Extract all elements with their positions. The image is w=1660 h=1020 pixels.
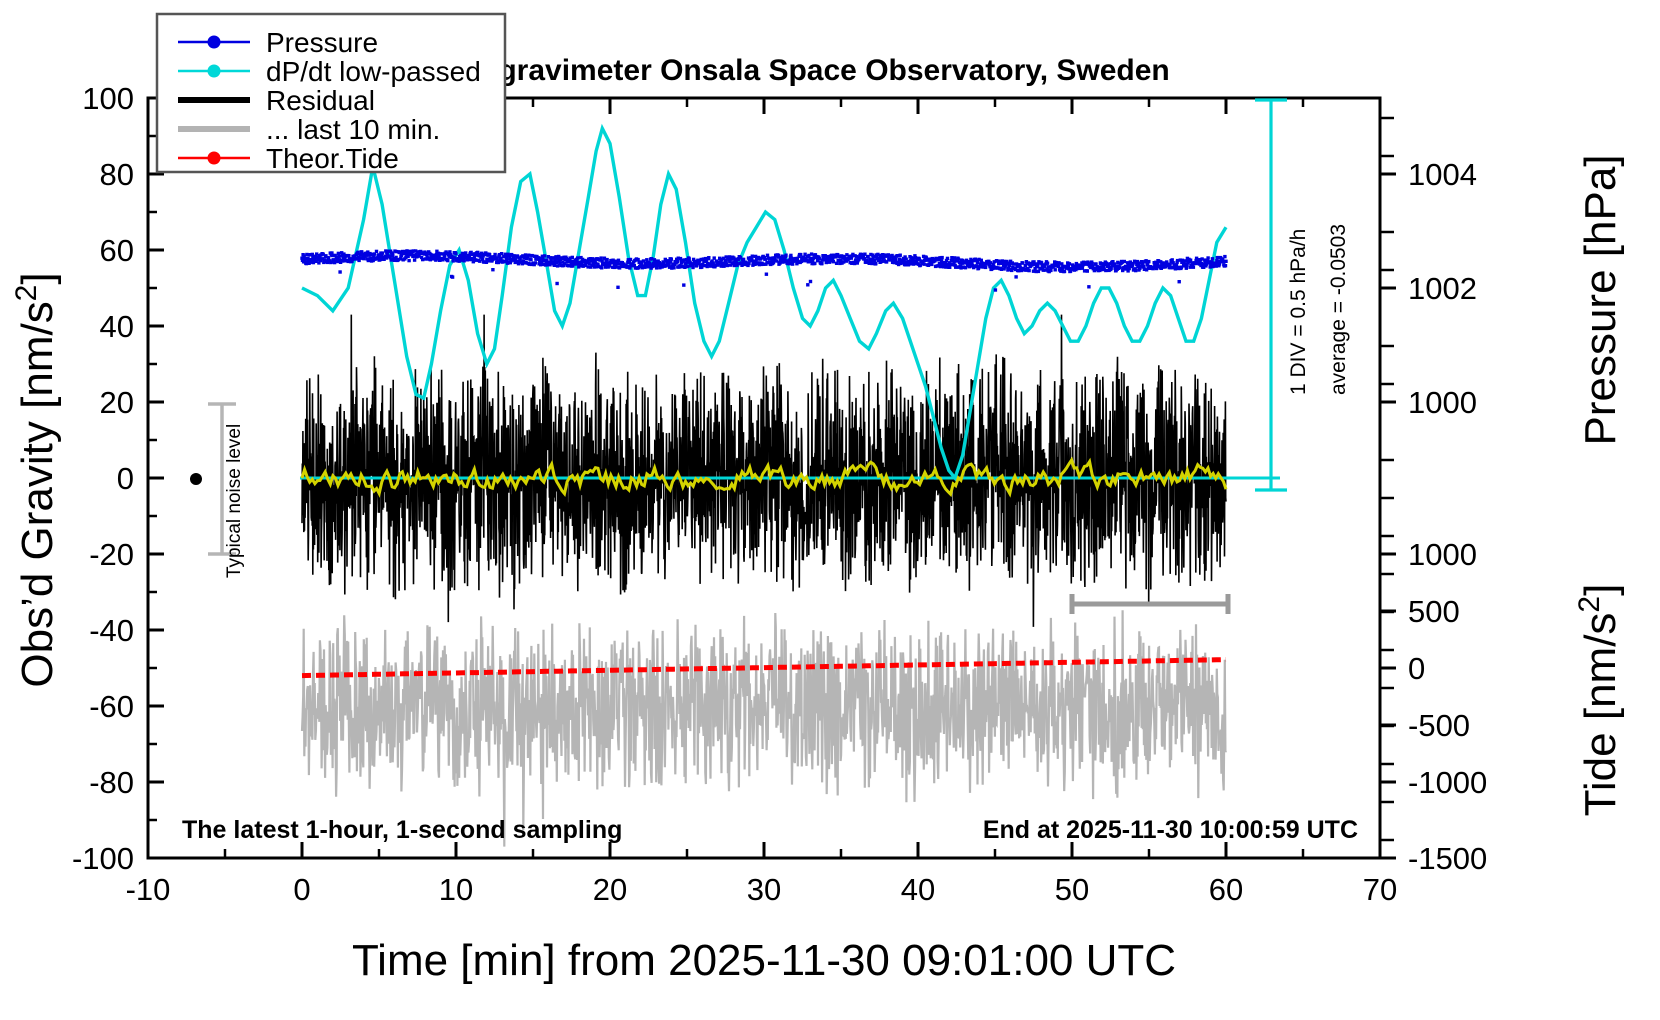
y-tick-label: 40 (100, 309, 134, 344)
legend-marker (208, 65, 221, 78)
y-axis-right-tide: 10005000-500-1000-1500 (1380, 537, 1487, 876)
x-tick-label: 20 (593, 872, 627, 907)
series-pressure (300, 249, 1227, 291)
y-tick-label: 0 (117, 461, 134, 496)
typical-noise-level-label: Typical noise level (224, 424, 245, 578)
pressure-tick-label: 1000 (1408, 385, 1477, 420)
y-tick-label: -60 (89, 689, 134, 724)
y-axis-right-pressure: 100010021004 (1380, 157, 1477, 420)
x-tick-label: 70 (1363, 872, 1397, 907)
tide-tick-label: -1000 (1408, 765, 1487, 800)
right-axis-minor-ticks (1380, 118, 1394, 840)
footer-right-note: End at 2025-11-30 10:00:59 UTC (983, 816, 1358, 844)
x-tick-label: 10 (439, 872, 473, 907)
x-tick-label: 40 (901, 872, 935, 907)
x-tick-label: -10 (126, 872, 171, 907)
legend-label: dP/dt low-passed (266, 56, 481, 87)
tide-tick-label: 0 (1408, 651, 1425, 686)
dpdt-average-annotation: average = -0.0503 (1327, 224, 1350, 395)
y-axis-right-tide-title: Tide [nm/s2] (1573, 584, 1626, 817)
y-axis-right-pressure-title: Pressure [hPa] (1576, 154, 1625, 445)
x-tick-label: 50 (1055, 872, 1089, 907)
tide-tick-label: -500 (1408, 708, 1470, 743)
x-tick-label: 60 (1209, 872, 1243, 907)
legend-label: Pressure (266, 27, 378, 58)
x-axis-title: Time [min] from 2025-11-30 09:01:00 UTC (352, 936, 1176, 985)
y-tick-label: 100 (82, 81, 134, 116)
last-10-min-span-bar (1072, 594, 1228, 614)
y-axis-left-title: Obs’d Gravity [nm/s2] (10, 272, 63, 687)
y-tick-label: 20 (100, 385, 134, 420)
footer-left-note: The latest 1-hour, 1-second sampling (182, 816, 622, 844)
legend-label: Theor.Tide (266, 143, 399, 174)
pressure-tick-label: 1002 (1408, 271, 1477, 306)
tide-tick-label: -1500 (1408, 841, 1487, 876)
legend-marker (208, 152, 221, 165)
y-axis-left: -100-80-60-40-20020406080100 (72, 81, 164, 876)
dpdt-div-annotation: 1 DIV = 0.5 hPa/h (1287, 229, 1310, 395)
dpdt-scale-bar (1255, 100, 1287, 490)
x-tick-label: 30 (747, 872, 781, 907)
y-tick-label: -80 (89, 765, 134, 800)
tide-tick-label: 1000 (1408, 537, 1477, 572)
legend-marker (208, 36, 221, 49)
chart-page: -100-80-60-40-20020406080100 -1001020304… (0, 0, 1660, 1020)
y-tick-label: -20 (89, 537, 134, 572)
y-tick-label: -100 (72, 841, 134, 876)
legend: PressuredP/dt low-passedResidual... last… (157, 14, 505, 174)
y-tick-label: -40 (89, 613, 134, 648)
series-last-10-min (302, 610, 1226, 846)
x-tick-label: 0 (293, 872, 310, 907)
y-tick-label: 80 (100, 157, 134, 192)
legend-label: Residual (266, 85, 375, 116)
y-tick-label: 60 (100, 233, 134, 268)
data-area (300, 128, 1280, 846)
legend-label: ... last 10 min. (266, 114, 440, 145)
tide-tick-label: 500 (1408, 594, 1460, 629)
gravimeter-chart: -100-80-60-40-20020406080100 -1001020304… (0, 0, 1660, 1020)
pressure-tick-label: 1004 (1408, 157, 1477, 192)
